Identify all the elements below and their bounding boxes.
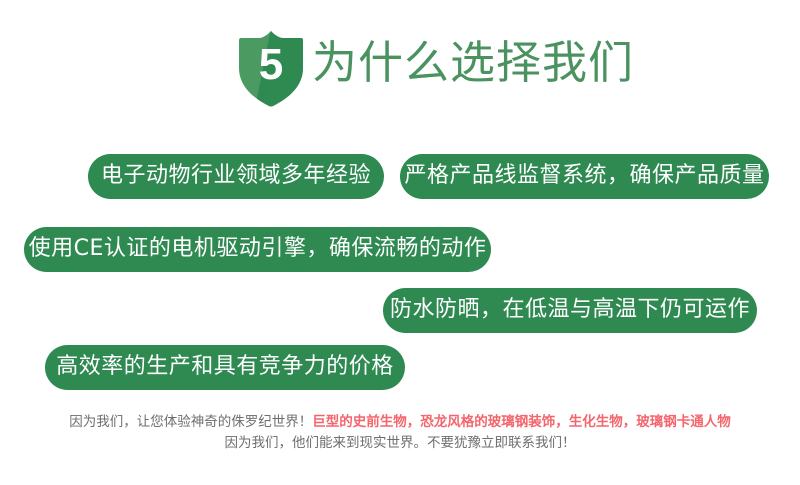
- footer-line-1-prefix: 因为我们，让您体验神奇的侏罗纪世界！: [69, 414, 312, 430]
- footer-line-2: 因为我们，他们能来到现实世界。不要犹豫立即联系我们！: [0, 433, 800, 454]
- feature-pill-4: 防水防晒，在低温与高温下仍可运作: [383, 288, 757, 333]
- footer-line-1-highlight: 巨型的史前生物，恐龙风格的玻璃钢装饰，生化生物，玻璃钢卡通人物: [312, 414, 731, 430]
- footer-paragraph: 因为我们，让您体验神奇的侏罗纪世界！巨型的史前生物，恐龙风格的玻璃钢装饰，生化生…: [0, 412, 800, 454]
- feature-pill-1-label: 电子动物行业领域多年经验: [101, 165, 371, 189]
- feature-pill-3: 使用CE认证的电机驱动引擎，确保流畅的动作: [24, 227, 491, 272]
- feature-pill-5-label: 高效率的生产和具有竞争力的价格: [56, 356, 394, 380]
- promo-page: 5 为什么选择我们 电子动物行业领域多年经验 严格产品线监督系统，确保产品质量 …: [0, 0, 800, 485]
- shield-icon: 5: [237, 28, 305, 108]
- page-title: 为什么选择我们: [312, 34, 634, 92]
- feature-pill-4-label: 防水防晒，在低温与高温下仍可运作: [390, 299, 750, 323]
- feature-pill-5: 高效率的生产和具有竞争力的价格: [45, 345, 405, 390]
- feature-pill-2: 严格产品线监督系统，确保产品质量: [400, 154, 769, 199]
- footer-line-1: 因为我们，让您体验神奇的侏罗纪世界！巨型的史前生物，恐龙风格的玻璃钢装饰，生化生…: [0, 412, 800, 433]
- feature-pill-3-label: 使用CE认证的电机驱动引擎，确保流畅的动作: [29, 238, 487, 262]
- page-header: 5 为什么选择我们: [0, 0, 800, 120]
- feature-pill-1: 电子动物行业领域多年经验: [88, 154, 384, 199]
- badge-number: 5: [237, 28, 305, 108]
- feature-pill-2-label: 严格产品线监督系统，确保产品质量: [404, 165, 764, 189]
